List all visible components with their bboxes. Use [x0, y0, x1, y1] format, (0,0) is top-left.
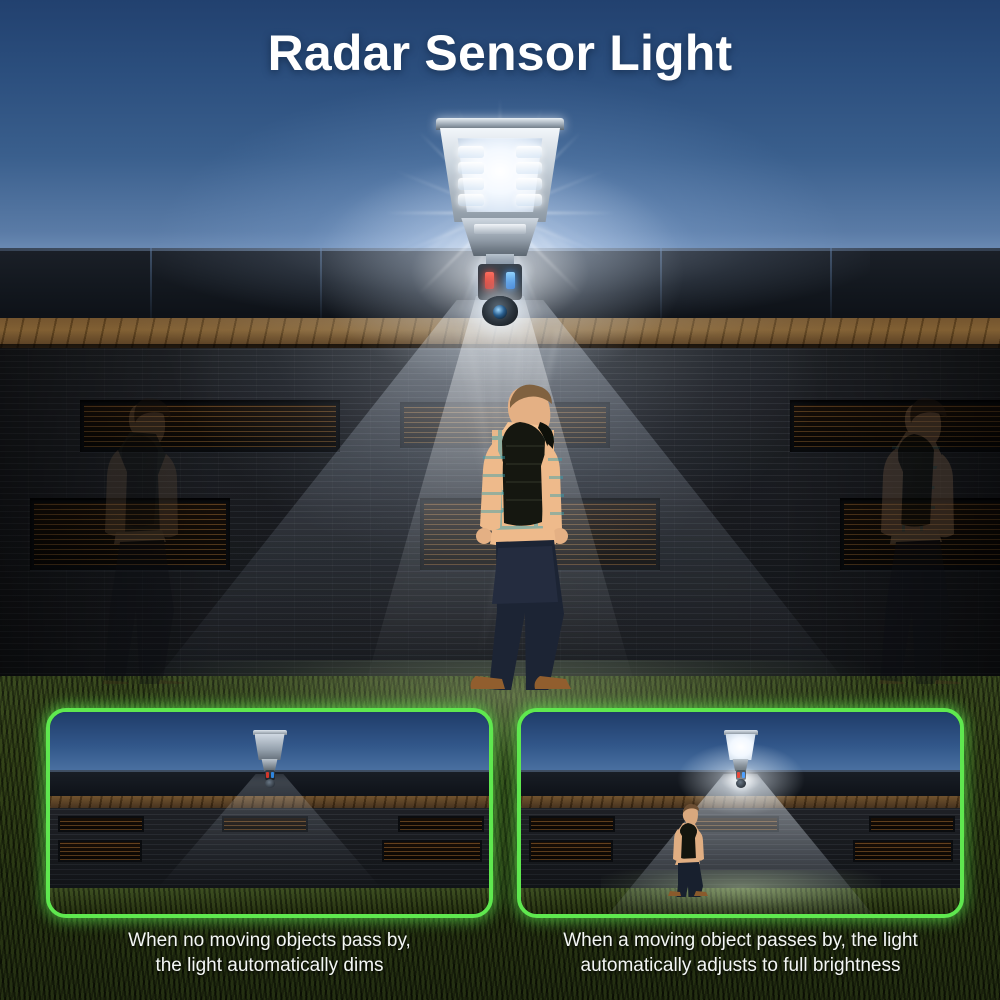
inset-camera-dome [736, 779, 746, 788]
inset-window [853, 840, 953, 862]
inset-grass-light-pool [601, 870, 881, 914]
inset-indicator-blue [271, 772, 274, 778]
led-strip [458, 146, 484, 158]
led-strip [458, 162, 484, 174]
inset-led-panel [255, 734, 285, 760]
inset-led-panel [726, 734, 756, 760]
caption-dim-line2: the light automatically dims [46, 953, 493, 978]
led-strip [516, 178, 542, 190]
inset-dim[interactable] [46, 708, 493, 918]
caption-bright: When a moving object passes by, the ligh… [517, 928, 964, 978]
walker-right [828, 384, 998, 684]
camera-lens-icon [493, 305, 507, 319]
inset-indicator-blue [742, 772, 745, 778]
led-strip [516, 146, 542, 158]
inset-window [398, 816, 484, 832]
lamp-badge [474, 224, 526, 234]
inset-indicator-red [737, 772, 740, 778]
indicator-blue-led [506, 272, 515, 289]
inset-window [869, 816, 955, 832]
walker-left [52, 384, 222, 684]
inset-soffit [50, 796, 489, 808]
led-strip [458, 194, 484, 206]
inset-camera-dome [265, 779, 275, 788]
inset-lamp-fixture [724, 730, 758, 792]
radar-sensor-light-fixture [430, 112, 570, 312]
product-banner: Radar Sensor Light [0, 0, 1000, 1000]
caption-bright-line1: When a moving object passes by, the ligh… [517, 928, 964, 953]
inset-window [58, 816, 144, 832]
inset-grass [50, 888, 489, 914]
caption-dim-line1: When no moving objects pass by, [46, 928, 493, 953]
inset-window [529, 840, 613, 862]
inset-window [382, 840, 482, 862]
walker-center [436, 370, 616, 690]
inset-walker [661, 801, 715, 902]
indicator-red-led [485, 272, 494, 289]
inset-indicator-red [266, 772, 269, 778]
caption-dim: When no moving objects pass by, the ligh… [46, 928, 493, 978]
page-title: Radar Sensor Light [0, 24, 1000, 82]
led-strip [516, 162, 542, 174]
led-strip [516, 194, 542, 206]
inset-bright[interactable] [517, 708, 964, 918]
led-strip [458, 178, 484, 190]
inset-window [222, 816, 308, 832]
caption-bright-line2: automatically adjusts to full brightness [517, 953, 964, 978]
inset-window [58, 840, 142, 862]
inset-window [529, 816, 615, 832]
inset-lamp-fixture [253, 730, 287, 792]
